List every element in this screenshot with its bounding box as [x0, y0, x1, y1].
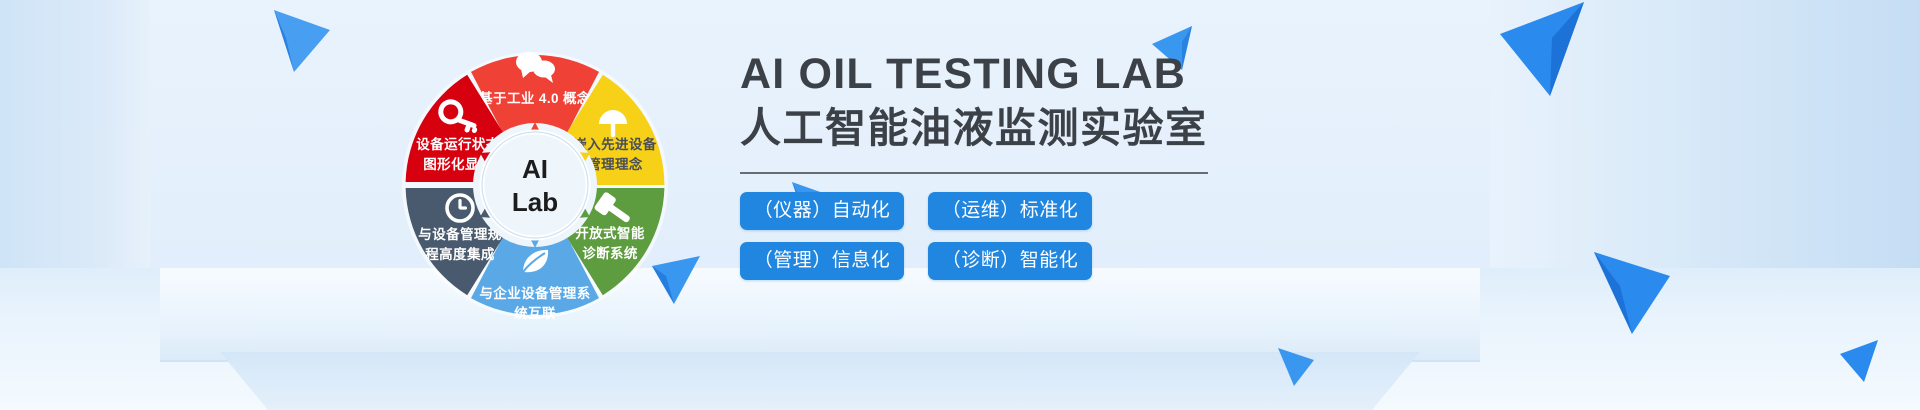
title-divider [740, 172, 1208, 174]
feature-pill-management-informatization[interactable]: （管理）信息化 [740, 242, 904, 280]
wheel-segment-label: 与企业设备管理系 [479, 285, 590, 301]
decorative-triangle-icon [1276, 344, 1316, 388]
wheel-core-line2: Lab [512, 187, 558, 217]
hero-banner: 基于工业 4.0 概念 嵌入先进设备 管理理念 开放式智能 [0, 0, 1920, 410]
background-platform-edge [220, 352, 1420, 410]
wheel-segment-label: 与设备管理规 [418, 226, 501, 242]
wheel-core-line1: AI [522, 154, 548, 184]
wheel-segment-label: 诊断系统 [582, 245, 638, 261]
decorative-triangle-icon [1590, 246, 1674, 338]
feature-pill-diagnosis-intelligence[interactable]: （诊断）智能化 [928, 242, 1092, 280]
wheel-segment-label: 程高度集成 [425, 246, 495, 262]
decorative-triangle-icon [1496, 0, 1588, 100]
banner-text-block: AI OIL TESTING LAB 人工智能油液监测实验室 （仪器）自动化 （… [740, 48, 1500, 280]
wheel-segment-label: 管理理念 [587, 156, 643, 172]
ai-lab-wheel: 基于工业 4.0 概念 嵌入先进设备 管理理念 开放式智能 [370, 10, 700, 340]
wheel-segment-label: 统互联 [514, 305, 556, 321]
feature-pill-instrument-automation[interactable]: （仪器）自动化 [740, 192, 904, 230]
decorative-triangle-icon [1836, 336, 1880, 384]
wheel-segment-label: 开放式智能 [575, 225, 645, 241]
banner-title-en: AI OIL TESTING LAB [740, 48, 1500, 100]
feature-pill-ops-standardization[interactable]: （运维）标准化 [928, 192, 1092, 230]
wheel-segment-label: 基于工业 4.0 概念 [479, 90, 591, 106]
banner-title-cn: 人工智能油液监测实验室 [740, 102, 1500, 154]
feature-pill-group: （仪器）自动化 （运维）标准化 （管理）信息化 （诊断）智能化 [740, 192, 1220, 280]
decorative-triangle-icon [272, 8, 332, 74]
